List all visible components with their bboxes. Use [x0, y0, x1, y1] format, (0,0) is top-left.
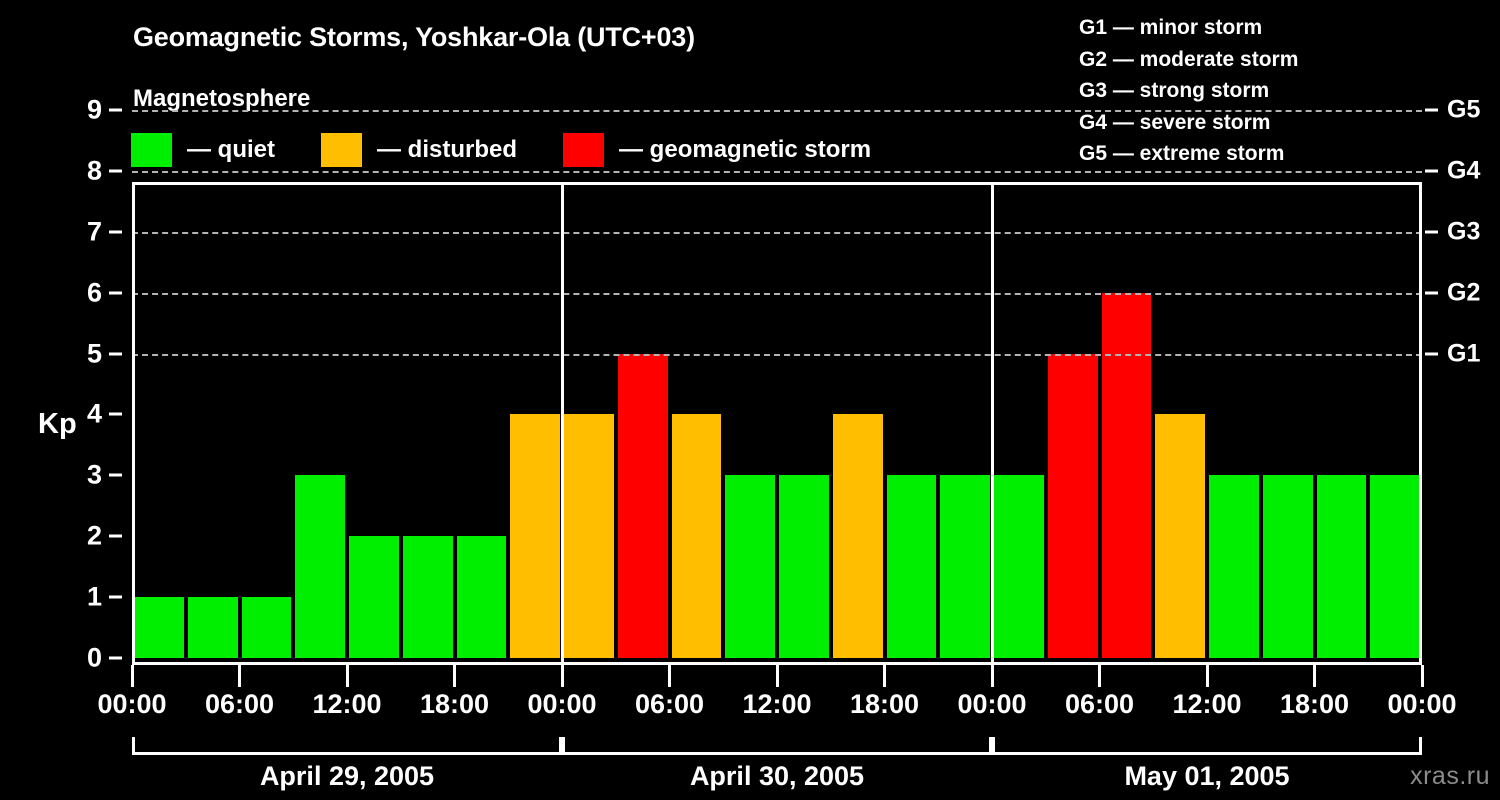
y-tick-label-6: 6: [62, 277, 102, 308]
y-tick-label-1: 1: [62, 582, 102, 613]
y-tick-label-5: 5: [62, 338, 102, 369]
day-bracket-tick-left: [992, 737, 995, 755]
day-bracket-line: [992, 752, 1422, 755]
legend-item-disturbed: — disturbed: [321, 133, 517, 167]
day-bracket-tick-right: [1419, 737, 1422, 755]
g-tick-mark-G4: [1425, 169, 1438, 172]
y-tick-label-9: 9: [62, 94, 102, 125]
x-tick-label-12: 00:00: [1357, 689, 1487, 720]
legend-swatch-disturbed: [321, 133, 362, 167]
y-tick-label-7: 7: [62, 216, 102, 247]
y-tick-label-8: 8: [62, 155, 102, 186]
x-tick-mark-10: [1206, 665, 1209, 687]
plot-area: [132, 182, 1422, 665]
day-bracket-3: [992, 737, 1422, 755]
y-tick-mark-7: [109, 230, 122, 233]
y-tick-mark-2: [109, 535, 122, 538]
gridline-kp-9: [132, 110, 1422, 112]
g-tick-label-G2: G2: [1447, 278, 1480, 307]
x-tick-mark-6: [776, 665, 779, 687]
g-scale-legend: G1 — minor stormG2 — moderate stormG3 — …: [1079, 12, 1298, 170]
legend-label-quiet: — quiet: [187, 136, 275, 164]
x-tick-mark-2: [346, 665, 349, 687]
day-bracket-line: [562, 752, 992, 755]
x-tick-mark-12: [1421, 665, 1424, 687]
legend-heading: Magnetosphere: [133, 85, 310, 113]
legend-item-storm: — geomagnetic storm: [563, 133, 871, 167]
y-tick-label-2: 2: [62, 521, 102, 552]
g-tick-mark-G5: [1425, 108, 1438, 111]
day-bracket-tick-left: [132, 737, 135, 755]
y-tick-mark-3: [109, 474, 122, 477]
chart-root: Geomagnetic Storms, Yoshkar-Ola (UTC+03)…: [0, 0, 1500, 800]
y-tick-mark-5: [109, 352, 122, 355]
x-tick-mark-0: [131, 665, 134, 687]
g-tick-mark-G2: [1425, 291, 1438, 294]
page-title: Geomagnetic Storms, Yoshkar-Ola (UTC+03): [133, 22, 695, 53]
y-tick-label-3: 3: [62, 460, 102, 491]
g-tick-label-G3: G3: [1447, 217, 1480, 246]
x-tick-mark-1: [238, 665, 241, 687]
y-tick-mark-6: [109, 291, 122, 294]
y-tick-mark-9: [109, 108, 122, 111]
day-bracket-tick-left: [562, 737, 565, 755]
watermark: xras.ru: [1410, 762, 1490, 791]
y-axis-title: Kp: [38, 408, 77, 441]
day-bracket-2: [562, 737, 992, 755]
x-tick-mark-8: [991, 665, 994, 687]
y-tick-mark-1: [109, 596, 122, 599]
plot-frame: [132, 182, 1422, 665]
x-tick-mark-3: [453, 665, 456, 687]
x-tick-mark-5: [668, 665, 671, 687]
legend-item-quiet: — quiet: [131, 133, 275, 167]
x-tick-mark-11: [1313, 665, 1316, 687]
day-bracket-line: [132, 752, 562, 755]
y-tick-mark-8: [109, 169, 122, 172]
g-scale-line-1: G1 — minor storm: [1079, 12, 1298, 44]
g-tick-label-G4: G4: [1447, 156, 1480, 185]
day-label-3: May 01, 2005: [992, 761, 1422, 792]
day-label-1: April 29, 2005: [132, 761, 562, 792]
legend-label-storm: — geomagnetic storm: [619, 136, 871, 164]
x-tick-mark-9: [1098, 665, 1101, 687]
g-scale-line-5: G5 — extreme storm: [1079, 138, 1298, 170]
gridline-kp-8: [132, 171, 1422, 173]
g-tick-mark-G3: [1425, 230, 1438, 233]
g-tick-mark-G1: [1425, 352, 1438, 355]
g-scale-line-2: G2 — moderate storm: [1079, 44, 1298, 76]
x-tick-mark-7: [883, 665, 886, 687]
g-scale-line-3: G3 — strong storm: [1079, 75, 1298, 107]
g-tick-label-G1: G1: [1447, 339, 1480, 368]
day-bracket-1: [132, 737, 562, 755]
legend-swatch-storm: [563, 133, 604, 167]
legend-swatch-quiet: [131, 133, 172, 167]
y-tick-mark-4: [109, 413, 122, 416]
y-tick-mark-0: [109, 657, 122, 660]
day-label-2: April 30, 2005: [562, 761, 992, 792]
legend-label-disturbed: — disturbed: [377, 136, 517, 164]
x-axis: 00:0006:0012:0018:0000:0006:0012:0018:00…: [0, 665, 1500, 800]
g-tick-label-G5: G5: [1447, 95, 1480, 124]
legend: — quiet— disturbed— geomagnetic storm: [131, 130, 917, 170]
x-tick-mark-4: [561, 665, 564, 687]
